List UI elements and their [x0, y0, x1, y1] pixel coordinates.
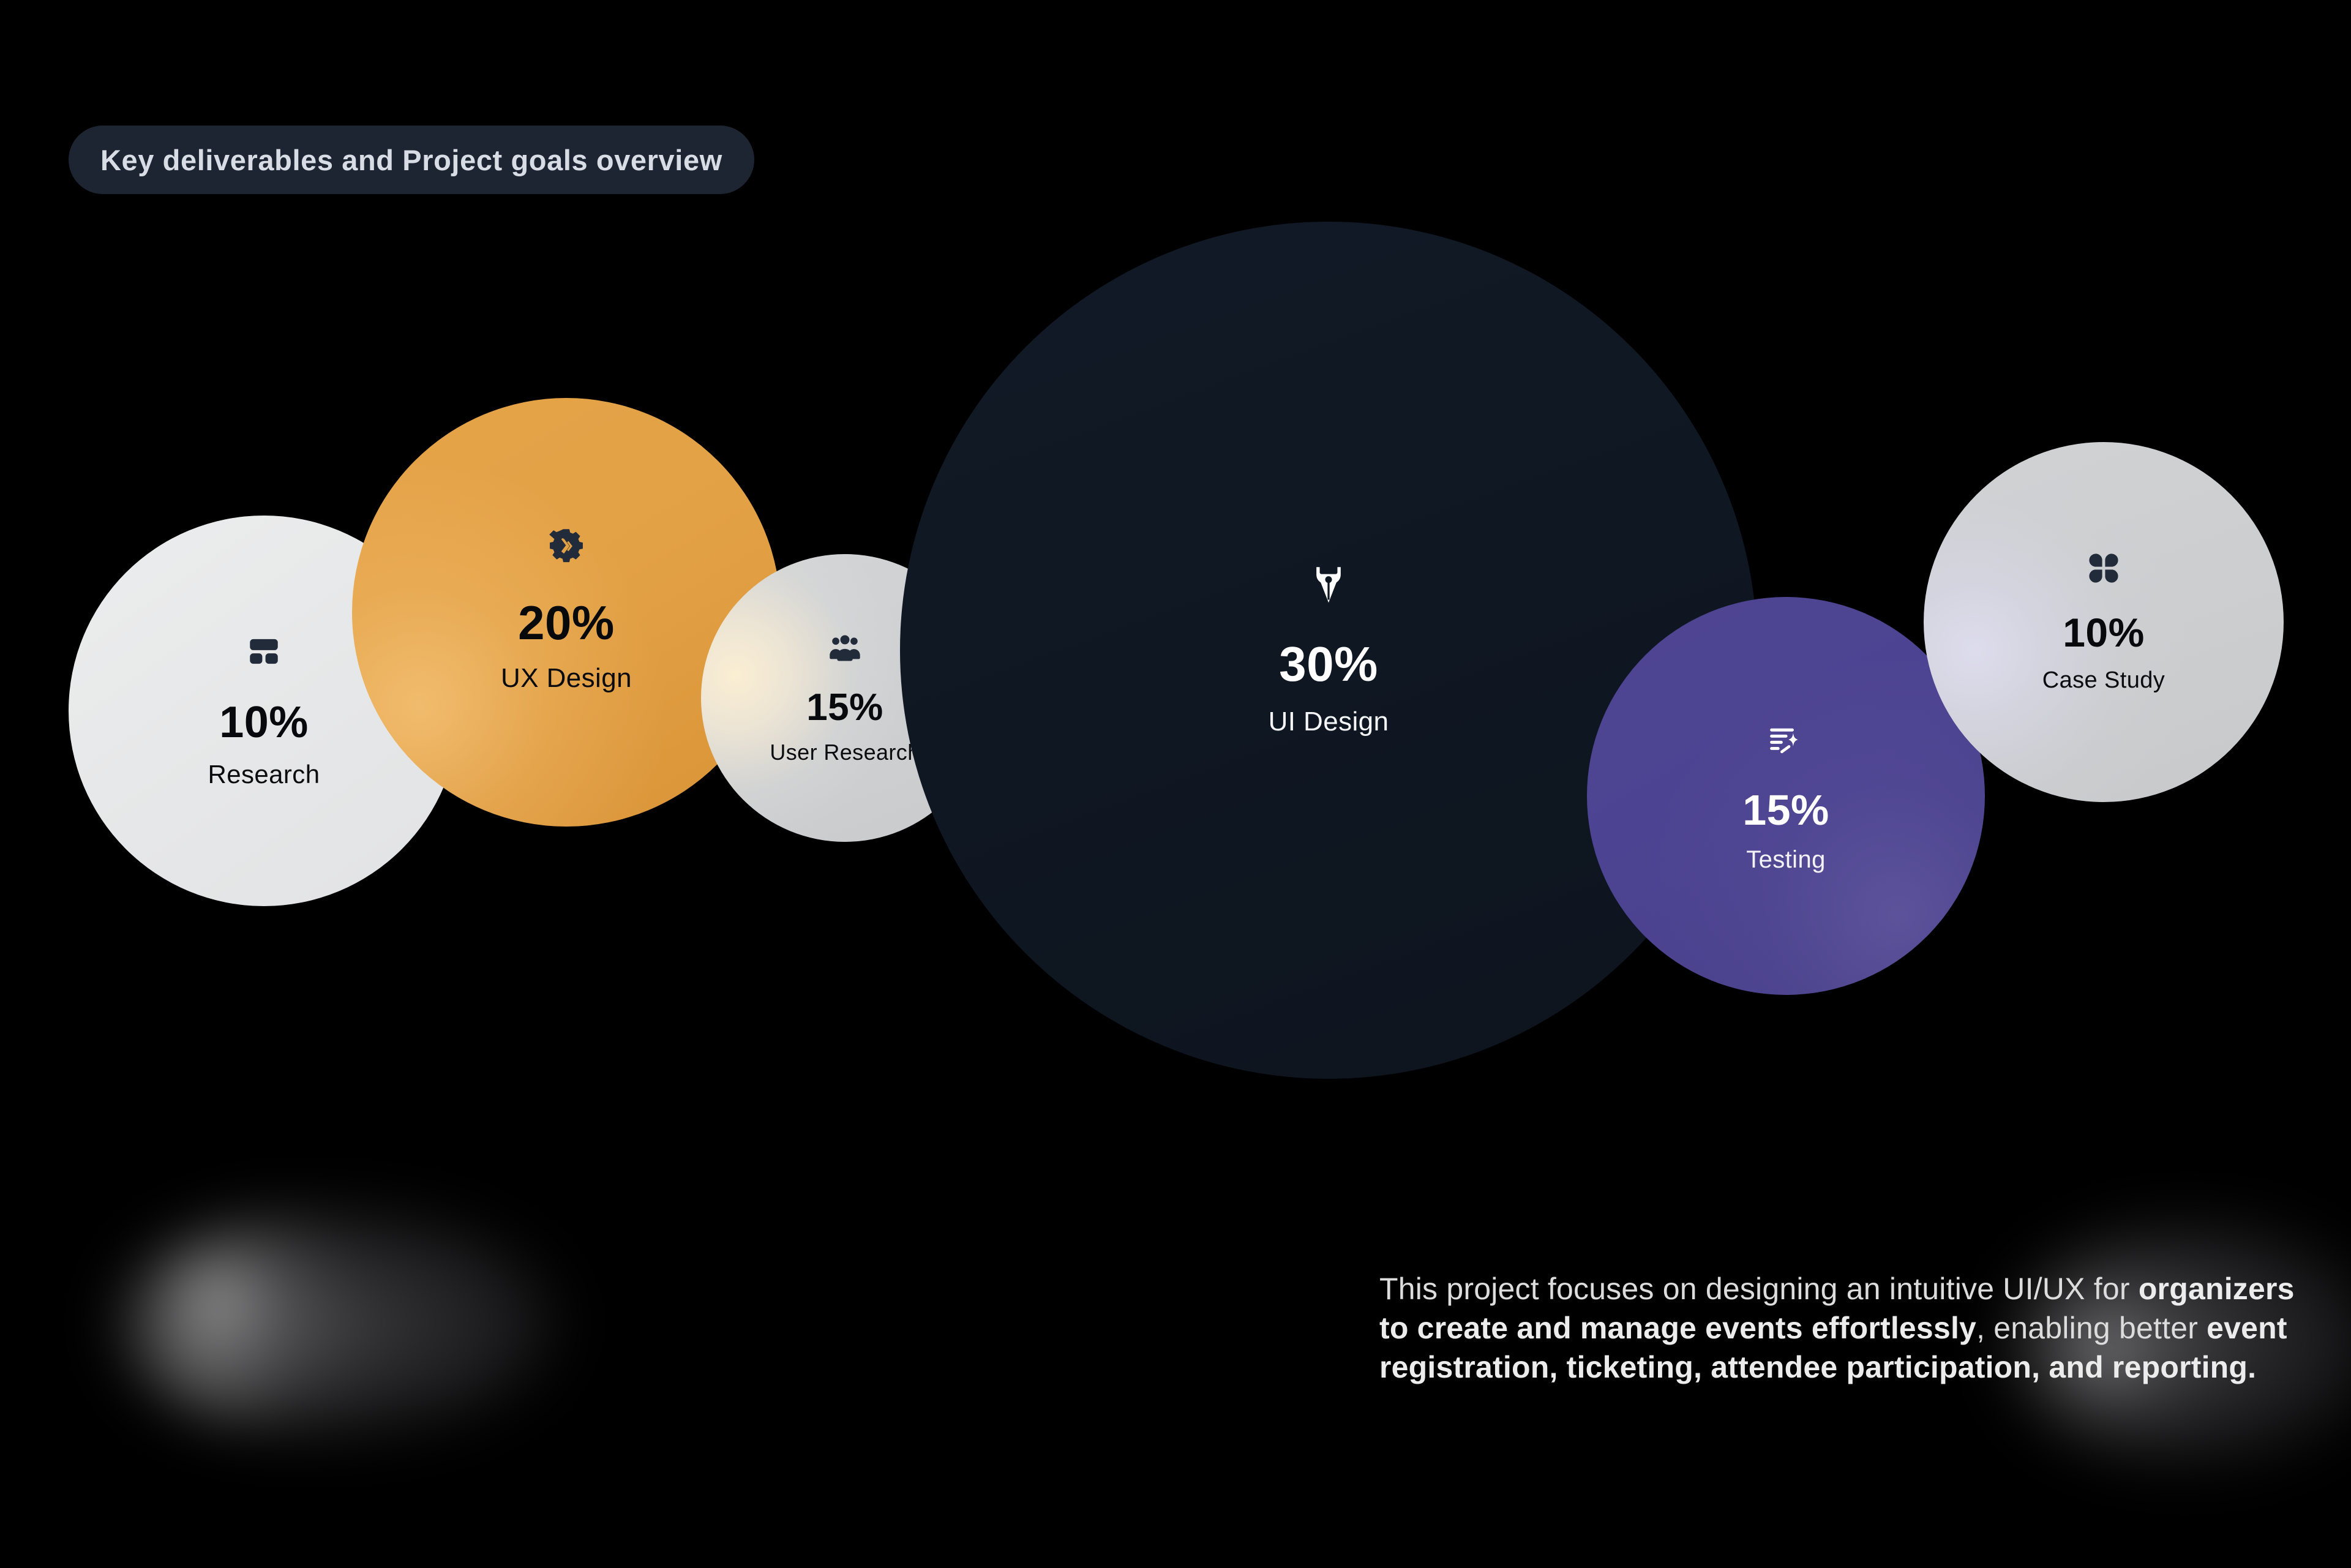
description-bold-2: effortlessly	[1812, 1311, 1976, 1345]
gear-arrow-icon	[546, 526, 587, 569]
bubble-percent: 10%	[219, 700, 309, 745]
slide-canvas: Key deliverables and Project goals overv…	[0, 0, 2351, 1568]
page-title: Key deliverables and Project goals overv…	[69, 126, 754, 194]
bubble-label: Research	[208, 762, 320, 787]
description-line-3-plain: , enabling better	[1976, 1311, 2207, 1345]
bubble-label: UI Design	[1269, 708, 1389, 735]
description-bold-4: ticketing, attendee participation, and r…	[1567, 1350, 2257, 1384]
magic-wand-sparkle-icon	[1767, 723, 1805, 764]
users-group-icon	[828, 631, 862, 668]
description-line-1: This project focuses on designing an int…	[1379, 1272, 2085, 1306]
bubble-percent: 15%	[1742, 789, 1829, 831]
decorative-blob-left	[119, 1209, 560, 1436]
bubble-content: 15% User Research	[770, 631, 920, 763]
bubble-content: 30% UI Design	[1269, 563, 1389, 735]
bubble-case-study[interactable]: 10% Case Study	[1924, 442, 2284, 802]
bubble-percent: 10%	[2063, 612, 2145, 653]
bubble-percent: 20%	[518, 599, 615, 647]
bubble-label: Case Study	[2042, 669, 2165, 692]
bubble-label: UX Design	[501, 665, 632, 692]
bubble-content: 10% Case Study	[2042, 550, 2165, 692]
bubble-label: Testing	[1746, 847, 1826, 872]
dashboard-layout-icon	[245, 632, 283, 673]
four-petal-clover-icon	[2086, 550, 2121, 589]
bubble-percent: 15%	[806, 689, 883, 727]
bubble-testing[interactable]: 15% Testing	[1587, 597, 1985, 995]
bubble-content: 20% UX Design	[501, 526, 632, 692]
bubble-label: User Research	[770, 741, 920, 763]
bubble-content: 10% Research	[208, 632, 320, 787]
bubble-content: 15% Testing	[1742, 723, 1829, 872]
pen-nib-icon	[1311, 563, 1346, 608]
bubble-percent: 30%	[1279, 640, 1378, 689]
description-line-2-plain: for	[2094, 1272, 2139, 1306]
project-description: This project focuses on designing an int…	[1379, 1269, 2310, 1387]
bubble-ui-design[interactable]: 30% UI Design	[900, 222, 1757, 1079]
